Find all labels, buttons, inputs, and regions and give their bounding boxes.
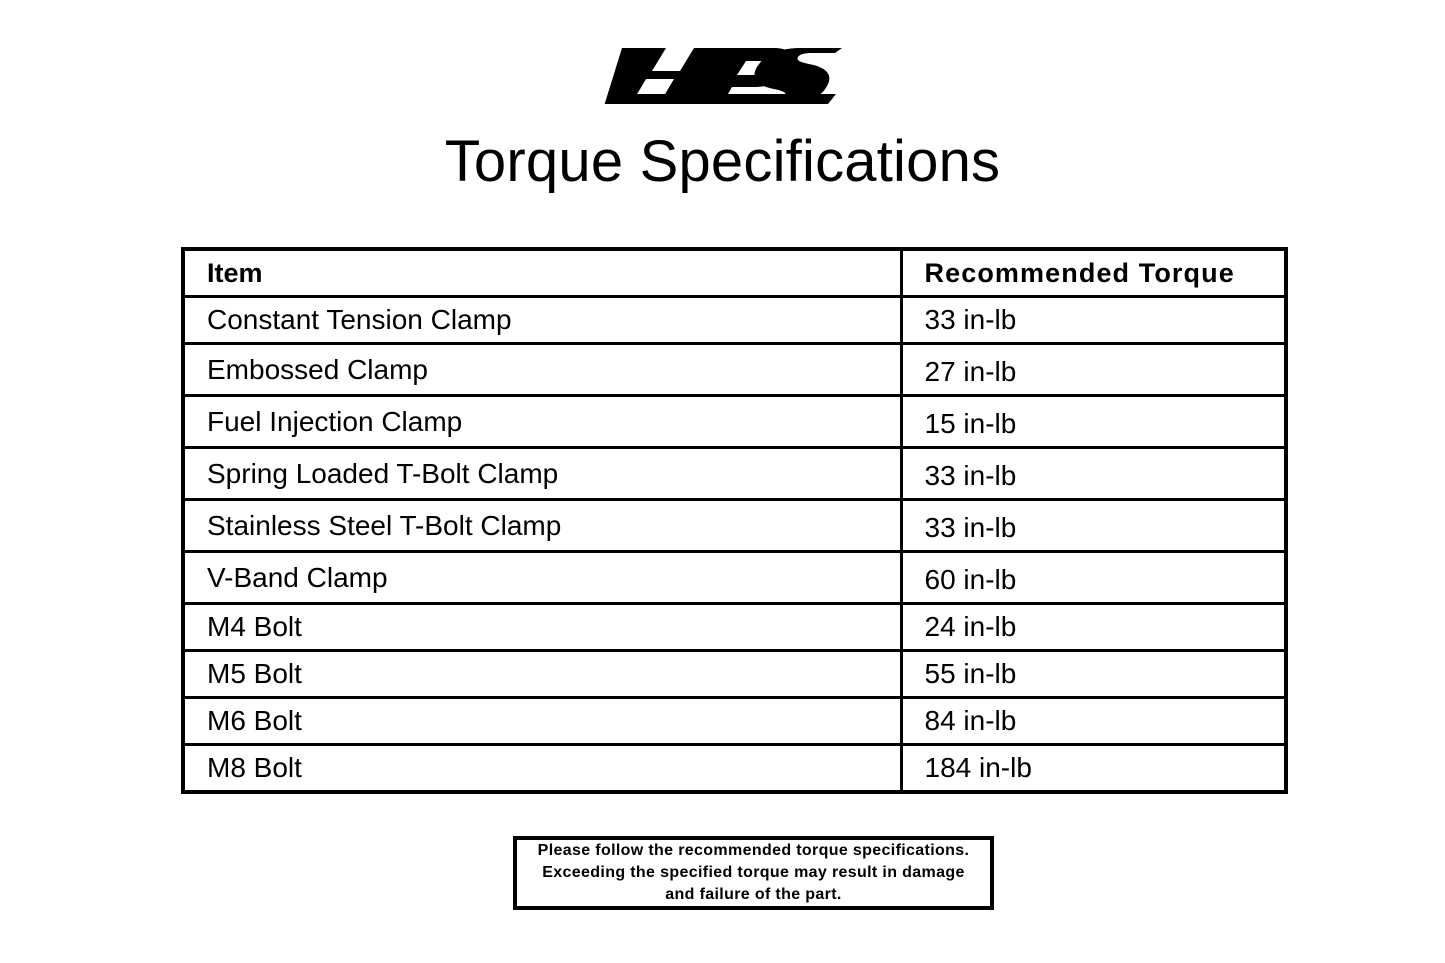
table-header-row: Item Recommended Torque <box>183 249 1286 297</box>
note-line-3: and failure of the part. <box>665 884 841 906</box>
table-row: Constant Tension Clamp 33 in-lb <box>183 297 1286 344</box>
table-row: Stainless Steel T-Bolt Clamp 33 in-lb <box>183 500 1286 552</box>
column-header-item: Item <box>183 249 901 297</box>
cell-torque: 184 in-lb <box>901 745 1286 793</box>
cell-torque: 33 in-lb <box>901 297 1286 344</box>
table-row: M8 Bolt 184 in-lb <box>183 745 1286 793</box>
table-row: Spring Loaded T-Bolt Clamp 33 in-lb <box>183 448 1286 500</box>
torque-specifications-table: Item Recommended Torque Constant Tension… <box>181 247 1288 794</box>
cell-torque: 60 in-lb <box>901 552 1286 604</box>
cell-item: M5 Bolt <box>183 651 901 698</box>
table-row: M6 Bolt 84 in-lb <box>183 698 1286 745</box>
cell-torque: 24 in-lb <box>901 604 1286 651</box>
hps-logo-icon <box>604 42 842 104</box>
cell-item: Stainless Steel T-Bolt Clamp <box>183 500 901 552</box>
table-row: Embossed Clamp 27 in-lb <box>183 344 1286 396</box>
cell-torque: 33 in-lb <box>901 448 1286 500</box>
cell-torque: 15 in-lb <box>901 396 1286 448</box>
table-row: V-Band Clamp 60 in-lb <box>183 552 1286 604</box>
cell-item: M6 Bolt <box>183 698 901 745</box>
table-row: M5 Bolt 55 in-lb <box>183 651 1286 698</box>
cell-torque: 55 in-lb <box>901 651 1286 698</box>
cell-item: V-Band Clamp <box>183 552 901 604</box>
table-row: M4 Bolt 24 in-lb <box>183 604 1286 651</box>
cell-item: Spring Loaded T-Bolt Clamp <box>183 448 901 500</box>
cell-torque: 27 in-lb <box>901 344 1286 396</box>
brand-logo <box>0 38 1445 108</box>
cell-item: Fuel Injection Clamp <box>183 396 901 448</box>
warning-note-box: Please follow the recommended torque spe… <box>513 836 994 910</box>
page-title: Torque Specifications <box>0 129 1445 195</box>
column-header-recommended-torque: Recommended Torque <box>901 249 1286 297</box>
cell-item: Constant Tension Clamp <box>183 297 901 344</box>
cell-torque: 33 in-lb <box>901 500 1286 552</box>
table-row: Fuel Injection Clamp 15 in-lb <box>183 396 1286 448</box>
note-line-2: Exceeding the specified torque may resul… <box>542 862 964 884</box>
cell-item: M4 Bolt <box>183 604 901 651</box>
note-line-1: Please follow the recommended torque spe… <box>538 840 970 862</box>
cell-torque: 84 in-lb <box>901 698 1286 745</box>
cell-item: M8 Bolt <box>183 745 901 793</box>
cell-item: Embossed Clamp <box>183 344 901 396</box>
